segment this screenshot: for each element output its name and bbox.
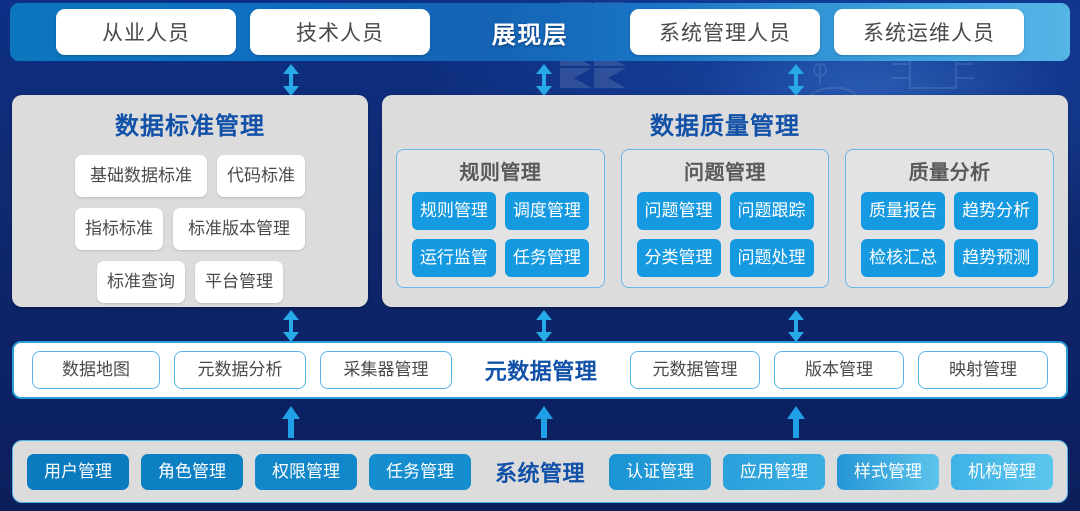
quality-group-title: 规则管理	[397, 156, 604, 185]
quality-button-trend-analysis[interactable]: 趋势分析	[954, 192, 1038, 230]
quality-group-title: 质量分析	[846, 156, 1053, 185]
quality-group-buttons: 质量报告 趋势分析 检核汇总 趋势预测	[846, 192, 1053, 277]
quality-group-quality-analysis: 质量分析 质量报告 趋势分析 检核汇总 趋势预测	[845, 149, 1054, 288]
arrow-up-icon	[281, 406, 301, 438]
double-arrow-vertical-icon	[280, 63, 302, 97]
presentation-layer-title: 展现层	[492, 15, 569, 50]
quality-button-trend-forecast[interactable]: 趋势预测	[954, 239, 1038, 277]
quality-group-title: 问题管理	[622, 156, 829, 185]
quality-button-inspection-summary[interactable]: 检核汇总	[861, 239, 945, 277]
sys-button-permission-management[interactable]: 权限管理	[255, 454, 357, 490]
quality-group-buttons: 问题管理 问题跟踪 分类管理 问题处理	[622, 192, 829, 277]
arrow-up-icon	[534, 406, 554, 438]
double-arrow-vertical-icon	[785, 63, 807, 97]
metadata-management-bar: 数据地图 元数据分析 采集器管理 元数据管理 元数据管理 版本管理 映射管理	[12, 341, 1068, 399]
sys-button-application-management[interactable]: 应用管理	[723, 454, 825, 490]
quality-button-quality-report[interactable]: 质量报告	[861, 192, 945, 230]
meta-button-version-management[interactable]: 版本管理	[774, 351, 904, 389]
sys-button-user-management[interactable]: 用户管理	[27, 454, 129, 490]
quality-button-classification-management[interactable]: 分类管理	[637, 239, 721, 277]
sys-button-task-management[interactable]: 任务管理	[369, 454, 471, 490]
double-arrow-vertical-icon	[533, 309, 555, 343]
quality-button-operation-supervision[interactable]: 运行监管	[412, 239, 496, 277]
sys-button-style-management[interactable]: 样式管理	[837, 454, 939, 490]
quality-button-task-management[interactable]: 任务管理	[505, 239, 589, 277]
sys-button-authentication-management[interactable]: 认证管理	[609, 454, 711, 490]
arrow-row-bottom	[0, 406, 1080, 438]
std-button-platform-management[interactable]: 平台管理	[195, 261, 283, 303]
meta-button-data-map[interactable]: 数据地图	[32, 351, 160, 389]
meta-button-collector-management[interactable]: 采集器管理	[320, 351, 452, 389]
top-item-system-ops[interactable]: 系统运维人员	[834, 9, 1024, 55]
meta-button-metadata-analysis[interactable]: 元数据分析	[174, 351, 306, 389]
quality-button-rule-management[interactable]: 规则管理	[412, 192, 496, 230]
data-quality-group-columns: 规则管理 规则管理 调度管理 运行监管 任务管理 问题管理 问题管理 问题跟踪 …	[382, 141, 1068, 288]
sys-button-organization-management[interactable]: 机构管理	[951, 454, 1053, 490]
data-standard-management-title: 数据标准管理	[12, 95, 368, 141]
data-standard-management-panel: 数据标准管理 基础数据标准 代码标准 指标标准 标准版本管理 标准查询 平台管理	[12, 95, 368, 307]
std-button-standard-query[interactable]: 标准查询	[97, 261, 185, 303]
top-item-system-admin[interactable]: 系统管理人员	[630, 9, 820, 55]
meta-button-mapping-management[interactable]: 映射管理	[918, 351, 1048, 389]
quality-button-issue-management[interactable]: 问题管理	[637, 192, 721, 230]
metadata-management-title: 元数据管理	[485, 354, 598, 386]
quality-group-buttons: 规则管理 调度管理 运行监管 任务管理	[397, 192, 604, 277]
sys-button-role-management[interactable]: 角色管理	[141, 454, 243, 490]
system-management-bar: 用户管理 角色管理 权限管理 任务管理 系统管理 认证管理 应用管理 样式管理 …	[12, 440, 1068, 503]
quality-group-issue-management: 问题管理 问题管理 问题跟踪 分类管理 问题处理	[621, 149, 830, 288]
presentation-layer-bar: 从业人员 技术人员 展现层 系统管理人员 系统运维人员	[10, 3, 1070, 61]
meta-button-metadata-management[interactable]: 元数据管理	[630, 351, 760, 389]
arrow-row-top	[0, 61, 1080, 95]
quality-button-schedule-management[interactable]: 调度管理	[505, 192, 589, 230]
double-arrow-vertical-icon	[785, 309, 807, 343]
top-item-technician[interactable]: 技术人员	[250, 9, 430, 55]
double-arrow-vertical-icon	[280, 309, 302, 343]
system-management-title: 系统管理	[491, 456, 589, 488]
quality-button-issue-tracking[interactable]: 问题跟踪	[730, 192, 814, 230]
data-standard-button-grid: 基础数据标准 代码标准 指标标准 标准版本管理 标准查询 平台管理	[12, 141, 368, 303]
quality-button-issue-handling[interactable]: 问题处理	[730, 239, 814, 277]
double-arrow-vertical-icon	[533, 63, 555, 97]
std-button-basic-data-standard[interactable]: 基础数据标准	[75, 155, 207, 197]
arrow-row-middle	[0, 309, 1080, 343]
data-quality-management-title: 数据质量管理	[382, 95, 1068, 141]
quality-group-rule-management: 规则管理 规则管理 调度管理 运行监管 任务管理	[396, 149, 605, 288]
data-quality-management-panel: 数据质量管理 规则管理 规则管理 调度管理 运行监管 任务管理 问题管理 问题管…	[382, 95, 1068, 307]
std-button-standard-version-management[interactable]: 标准版本管理	[173, 208, 305, 250]
arrow-up-icon	[786, 406, 806, 438]
top-item-practitioner[interactable]: 从业人员	[56, 9, 236, 55]
std-button-code-standard[interactable]: 代码标准	[217, 155, 305, 197]
std-button-indicator-standard[interactable]: 指标标准	[75, 208, 163, 250]
architecture-diagram: 从业人员 技术人员 展现层 系统管理人员 系统运维人员 数据标准管理 基础数据标…	[0, 0, 1080, 511]
